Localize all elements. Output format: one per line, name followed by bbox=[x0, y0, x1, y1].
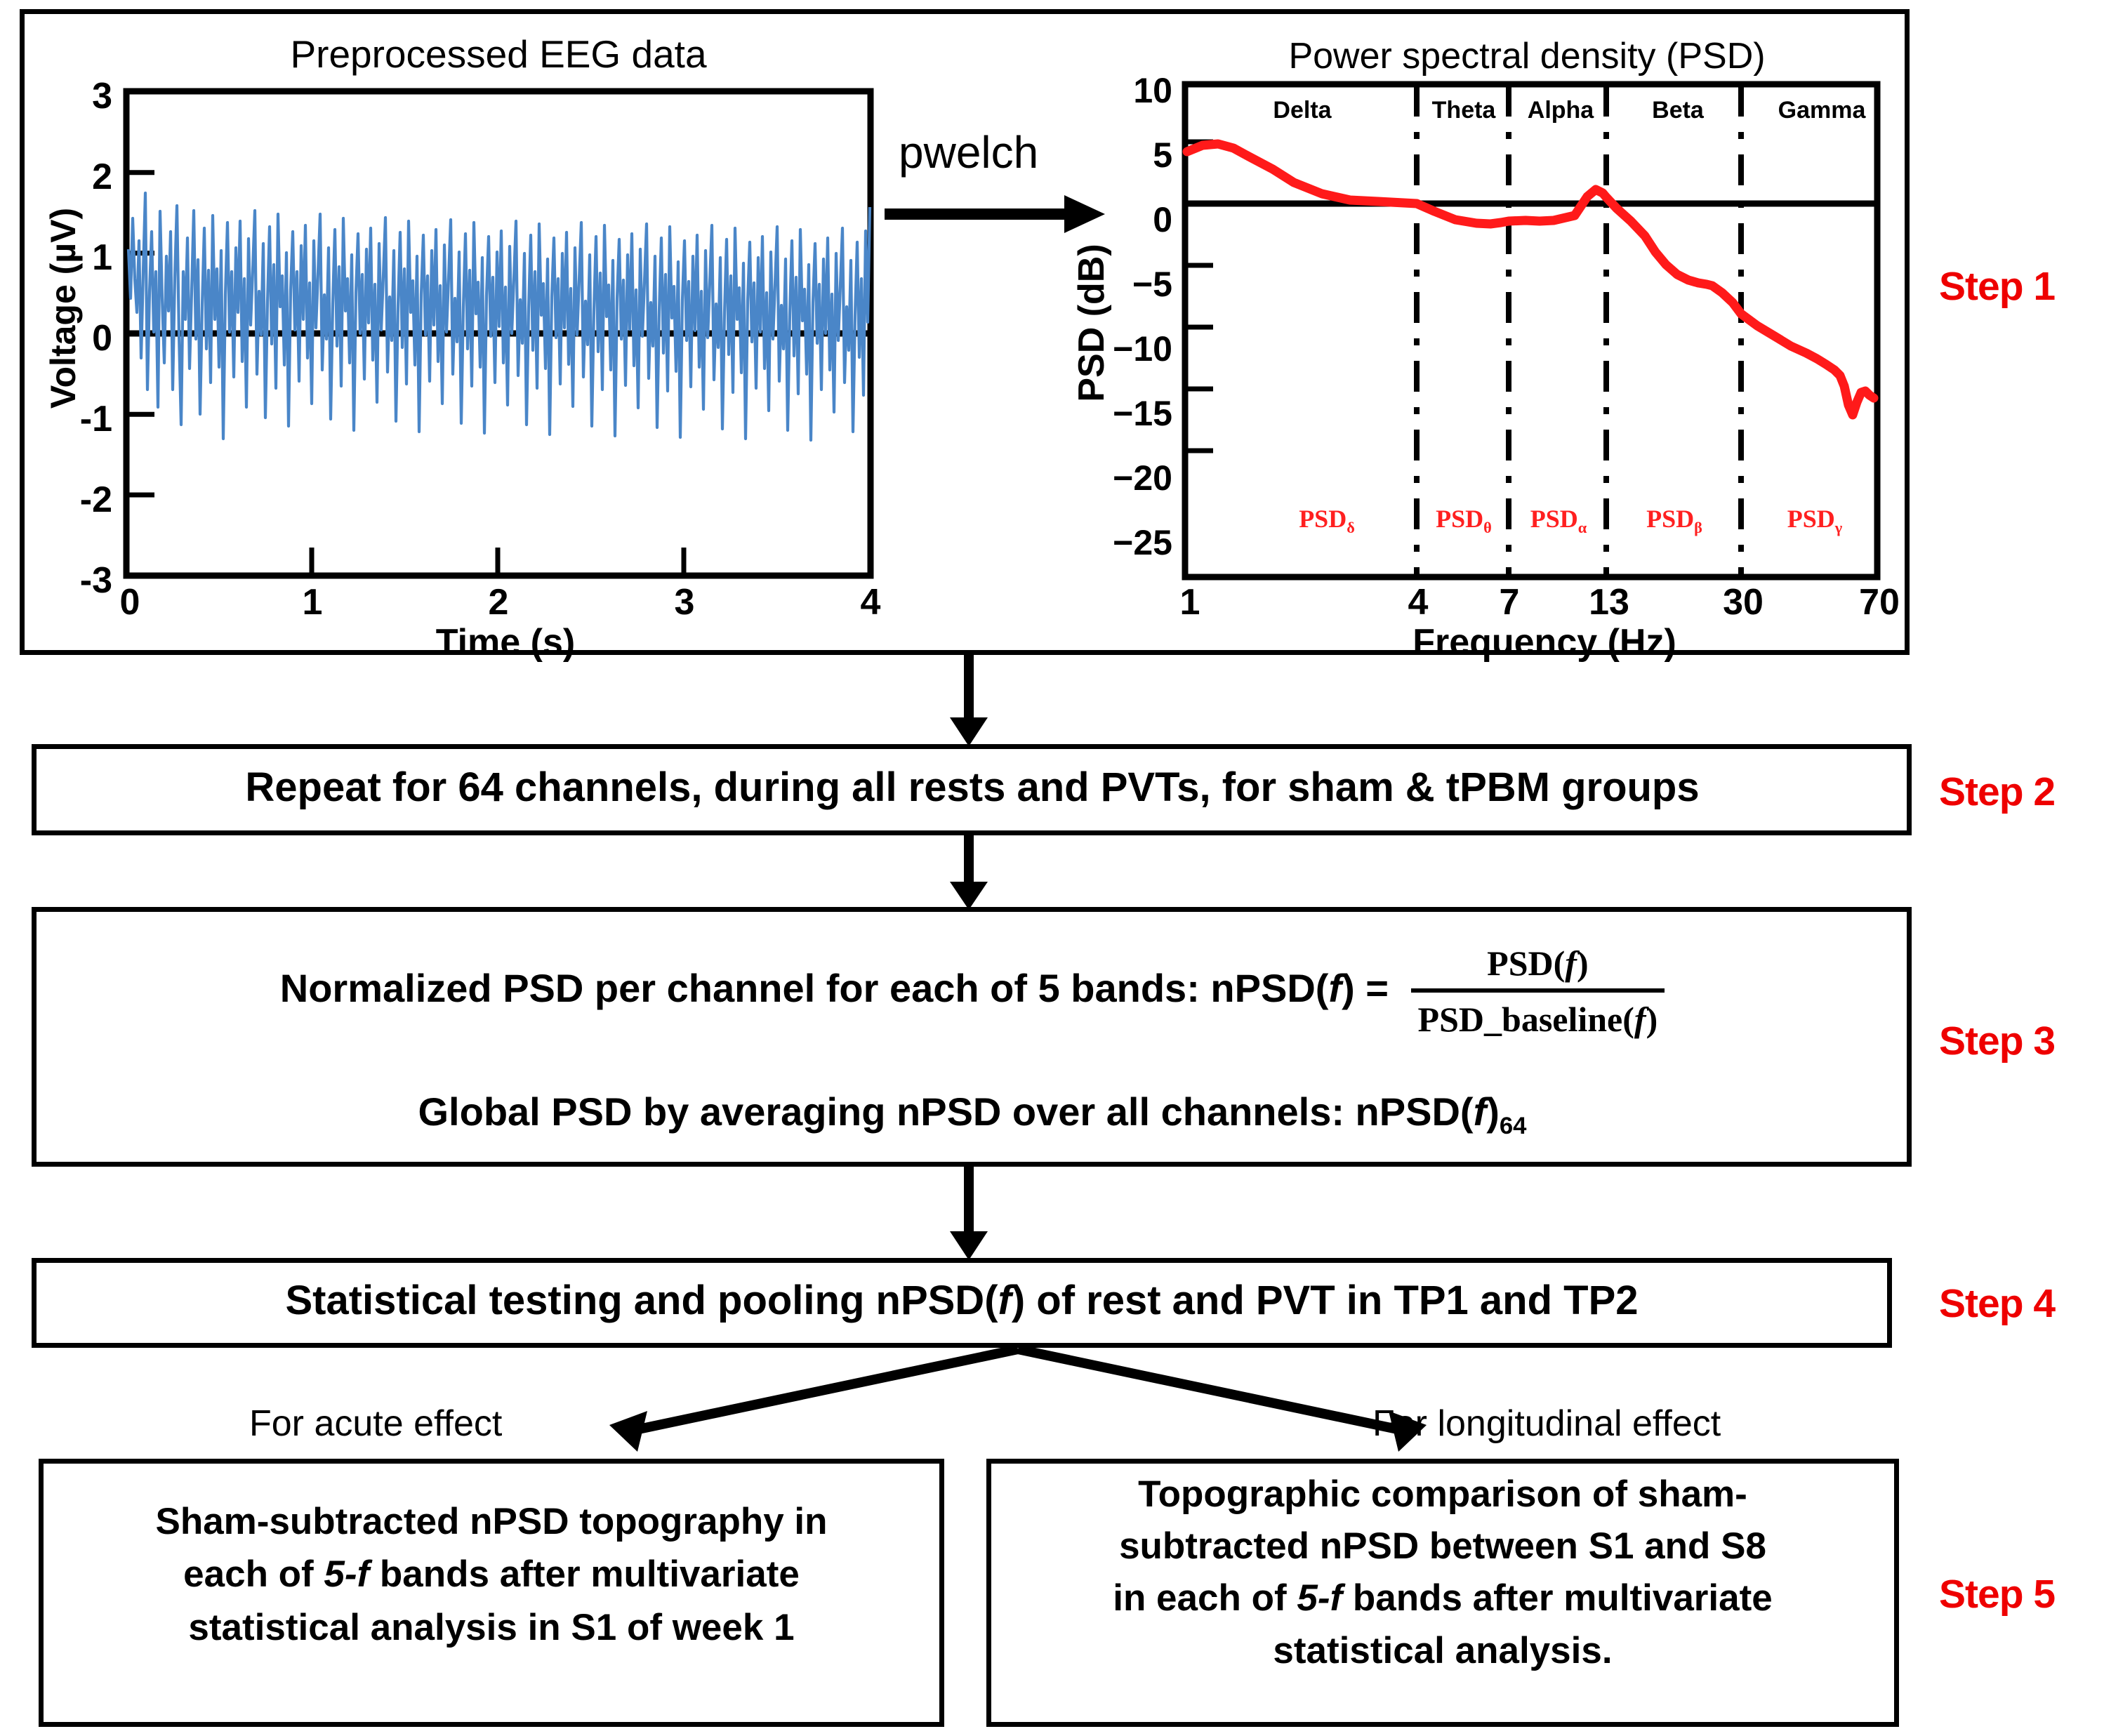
psd-xtick-70: 70 bbox=[1841, 581, 1918, 623]
eeg-ytick-neg2: -2 bbox=[28, 479, 112, 521]
eeg-ytick-neg1: -1 bbox=[28, 398, 112, 440]
step3-formula-suffix: ) = bbox=[1342, 966, 1389, 1010]
step4-suffix: ) of rest and PVT in TP1 and TP2 bbox=[1012, 1278, 1639, 1323]
step3-formula-prefix: Normalized PSD per channel for each of 5… bbox=[280, 966, 1329, 1010]
psd-xtick-30: 30 bbox=[1705, 581, 1782, 623]
psd-xtick-1: 1 bbox=[1158, 581, 1222, 623]
psd-band-name-alpha: Alpha bbox=[1508, 97, 1613, 124]
eeg-ytick-1: 1 bbox=[42, 237, 112, 279]
step5-right-line-2: subtracted nPSD between S1 and S8 bbox=[1000, 1520, 1885, 1572]
step-label-1: Step 1 bbox=[1939, 263, 2055, 310]
step5-left-line-1: Sham-subtracted nPSD topography in bbox=[53, 1495, 930, 1548]
psd-band-name-theta: Theta bbox=[1415, 97, 1513, 124]
branch-label-acute: For acute effect bbox=[249, 1403, 642, 1445]
psd-band-label-alpha: PSDα bbox=[1506, 504, 1611, 537]
step-label-2: Step 2 bbox=[1939, 769, 2055, 815]
step5-left-line-3: statistical analysis in S1 of week 1 bbox=[53, 1601, 930, 1654]
psd-ytick-neg25: −25 bbox=[1046, 522, 1172, 563]
psd-band-name-gamma: Gamma bbox=[1752, 97, 1892, 124]
psd-ytick-10: 10 bbox=[1074, 70, 1172, 111]
step5-left-line-2: each of 5-f bands after multivariate bbox=[53, 1548, 930, 1601]
step5-right-line-1: Topographic comparison of sham- bbox=[1000, 1469, 1885, 1520]
step3-global-sub: 64 bbox=[1500, 1113, 1527, 1139]
psd-ytick-5: 5 bbox=[1074, 135, 1172, 175]
step-label-3: Step 3 bbox=[1939, 1018, 2055, 1064]
psd-band-name-delta: Delta bbox=[1222, 97, 1383, 124]
eeg-xtick-0: 0 bbox=[98, 581, 161, 623]
step4-f: f bbox=[998, 1278, 1012, 1323]
psd-ytick-0: 0 bbox=[1074, 199, 1172, 240]
eeg-xtick-3: 3 bbox=[653, 581, 716, 623]
step2-text: Repeat for 64 channels, during all rests… bbox=[42, 762, 1903, 814]
fraction-numerator: PSD(f) bbox=[1411, 941, 1665, 988]
arrow-step4-to-left-branch bbox=[597, 1346, 1032, 1459]
arrow-step1-to-step2 bbox=[944, 653, 993, 748]
eeg-xtick-4: 4 bbox=[839, 581, 902, 623]
psd-band-name-beta: Beta bbox=[1618, 97, 1738, 124]
psd-ytick-neg5: −5 bbox=[1053, 264, 1172, 305]
eeg-xtick-2: 2 bbox=[467, 581, 530, 623]
step3-formula-f: f bbox=[1328, 966, 1342, 1010]
branch-label-longitudinal: For longitudinal effect bbox=[1372, 1403, 1906, 1445]
arrow-step2-to-step3 bbox=[944, 835, 993, 911]
psd-xtick-13: 13 bbox=[1570, 581, 1648, 623]
step4-prefix: Statistical testing and pooling nPSD( bbox=[285, 1278, 998, 1323]
step3-global-prefix: Global PSD by averaging nPSD over all ch… bbox=[418, 1089, 1474, 1134]
eeg-ytick-0: 0 bbox=[42, 317, 112, 359]
eeg-ytick-2: 2 bbox=[42, 156, 112, 198]
step-label-4: Step 4 bbox=[1939, 1280, 2055, 1327]
psd-chart-title: Power spectral density (PSD) bbox=[1165, 35, 1888, 77]
fraction-denominator: PSD_baseline(f) bbox=[1411, 988, 1665, 1042]
step3-global-line: Global PSD by averaging nPSD over all ch… bbox=[49, 1087, 1895, 1142]
psd-ytick-neg20: −20 bbox=[1046, 458, 1172, 498]
step3-global-suffix: ) bbox=[1486, 1089, 1500, 1134]
psd-band-label-delta: PSDδ bbox=[1257, 504, 1397, 537]
step5-right-text: Topographic comparison of sham- subtract… bbox=[1000, 1469, 1885, 1677]
psd-xtick-7: 7 bbox=[1478, 581, 1541, 623]
eeg-xtick-1: 1 bbox=[281, 581, 344, 623]
npsd-fraction: PSD(f) PSD_baseline(f) bbox=[1411, 941, 1665, 1042]
step5-left-text: Sham-subtracted nPSD topography in each … bbox=[53, 1495, 930, 1654]
step3-formula-line: Normalized PSD per channel for each of 5… bbox=[49, 941, 1895, 1042]
step3-global-f: f bbox=[1474, 1089, 1487, 1134]
step4-text: Statistical testing and pooling nPSD(f) … bbox=[42, 1275, 1881, 1327]
arrow-step3-to-step4 bbox=[944, 1167, 993, 1261]
step5-right-line-4: statistical analysis. bbox=[1000, 1625, 1885, 1677]
psd-ytick-neg10: −10 bbox=[1046, 329, 1172, 369]
psd-band-label-beta: PSDβ bbox=[1615, 504, 1734, 537]
psd-band-label-theta: PSDθ bbox=[1411, 504, 1516, 537]
eeg-ytick-3: 3 bbox=[42, 75, 112, 117]
psd-band-label-gamma: PSDγ bbox=[1748, 504, 1881, 537]
psd-xtick-4: 4 bbox=[1387, 581, 1450, 623]
psd-xlabel: Frequency (Hz) bbox=[1334, 621, 1755, 663]
step5-right-line-3: in each of 5-f bands after multivariate bbox=[1000, 1572, 1885, 1624]
eeg-plot bbox=[123, 88, 878, 579]
eeg-xlabel: Time (s) bbox=[295, 621, 716, 663]
step-label-5: Step 5 bbox=[1939, 1571, 2055, 1617]
psd-ytick-neg15: −15 bbox=[1046, 393, 1172, 434]
eeg-chart-title: Preprocessed EEG data bbox=[126, 32, 871, 77]
